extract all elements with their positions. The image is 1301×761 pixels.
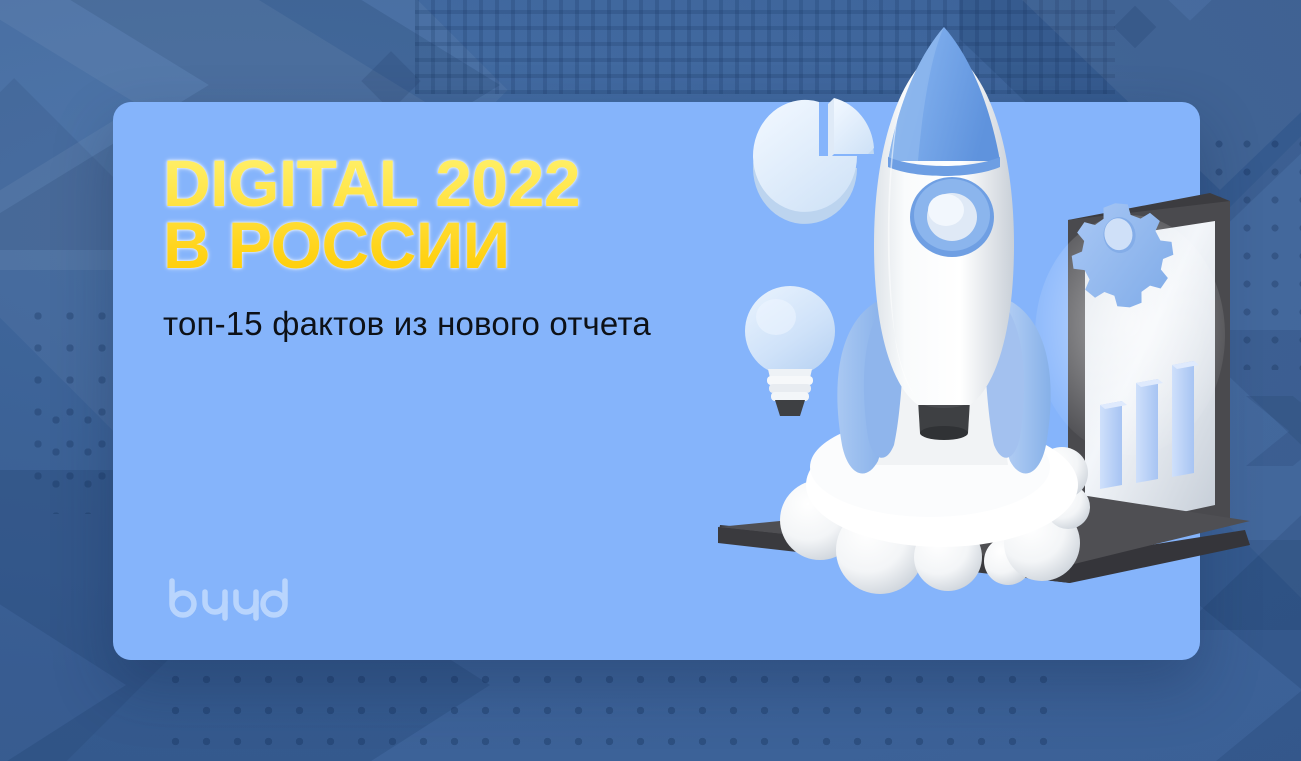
bg-dots-bottom <box>160 664 1060 761</box>
pie-chart-graphic <box>753 98 874 224</box>
page-subtitle: топ-15 фактов из нового отчета <box>163 305 651 343</box>
rocket-graphic <box>837 27 1050 474</box>
page-title: DIGITAL 2022 В РОССИИ <box>163 152 580 276</box>
rocket-illustration <box>690 5 1301 665</box>
lightbulb-graphic <box>745 286 835 416</box>
byyd-logo <box>166 578 291 624</box>
banner-root: DIGITAL 2022 В РОССИИ топ-15 фактов из н… <box>0 0 1301 761</box>
